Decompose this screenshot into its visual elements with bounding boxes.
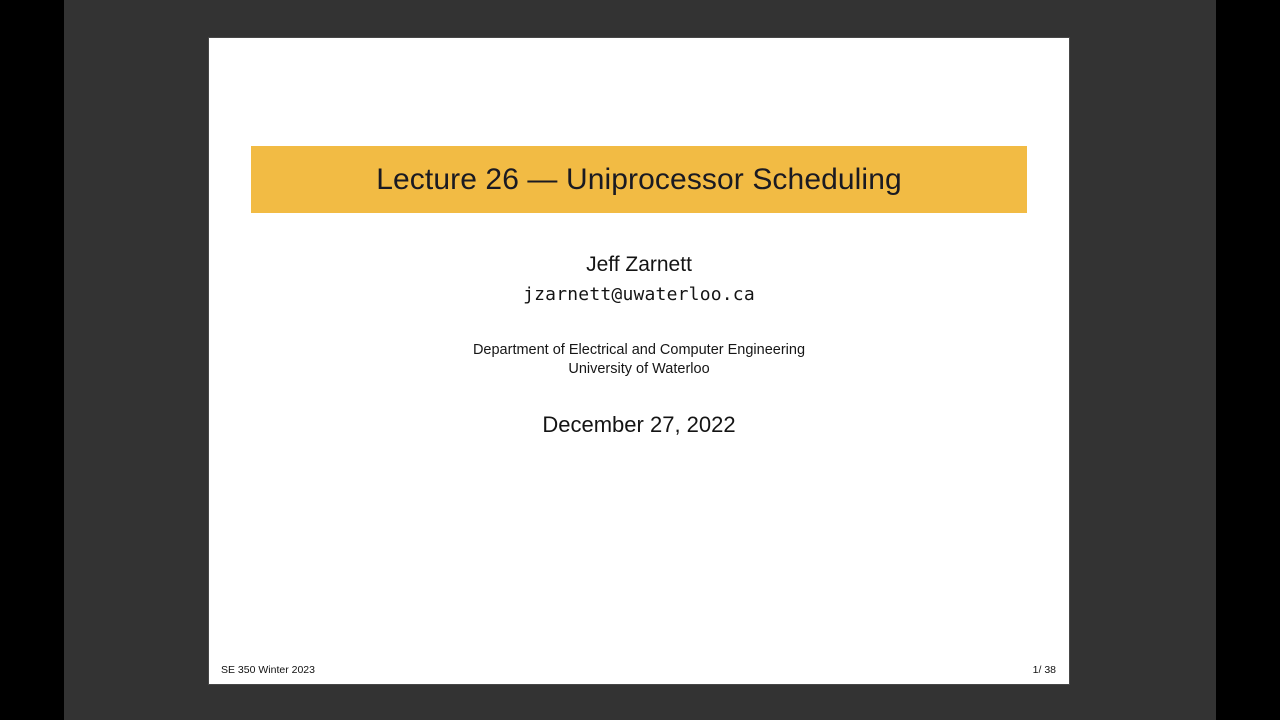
date-block: December 27, 2022 [209, 412, 1069, 438]
affiliation-institution: University of Waterloo [209, 360, 1069, 379]
affiliation-department: Department of Electrical and Computer En… [209, 341, 1069, 360]
letterbox-bar-left [0, 0, 64, 720]
footer-page-indicator: 1/ 38 [1033, 665, 1056, 676]
slide-title-banner: Lecture 26 — Uniprocessor Scheduling [251, 146, 1027, 213]
slide-page[interactable]: Lecture 26 — Uniprocessor Scheduling Jef… [209, 38, 1069, 684]
slide-footer: SE 350 Winter 2023 1/ 38 [209, 659, 1069, 675]
slide-date: December 27, 2022 [209, 412, 1069, 438]
affiliation-block: Department of Electrical and Computer En… [209, 341, 1069, 379]
author-email: jzarnett@uwaterloo.ca [209, 283, 1069, 307]
footer-course-label: SE 350 Winter 2023 [221, 665, 315, 676]
letterbox-bar-right [1216, 0, 1280, 720]
author-name: Jeff Zarnett [209, 252, 1069, 278]
presentation-viewer: Lecture 26 — Uniprocessor Scheduling Jef… [0, 0, 1280, 720]
author-block: Jeff Zarnett jzarnett@uwaterloo.ca [209, 252, 1069, 308]
slide-title: Lecture 26 — Uniprocessor Scheduling [376, 165, 902, 195]
